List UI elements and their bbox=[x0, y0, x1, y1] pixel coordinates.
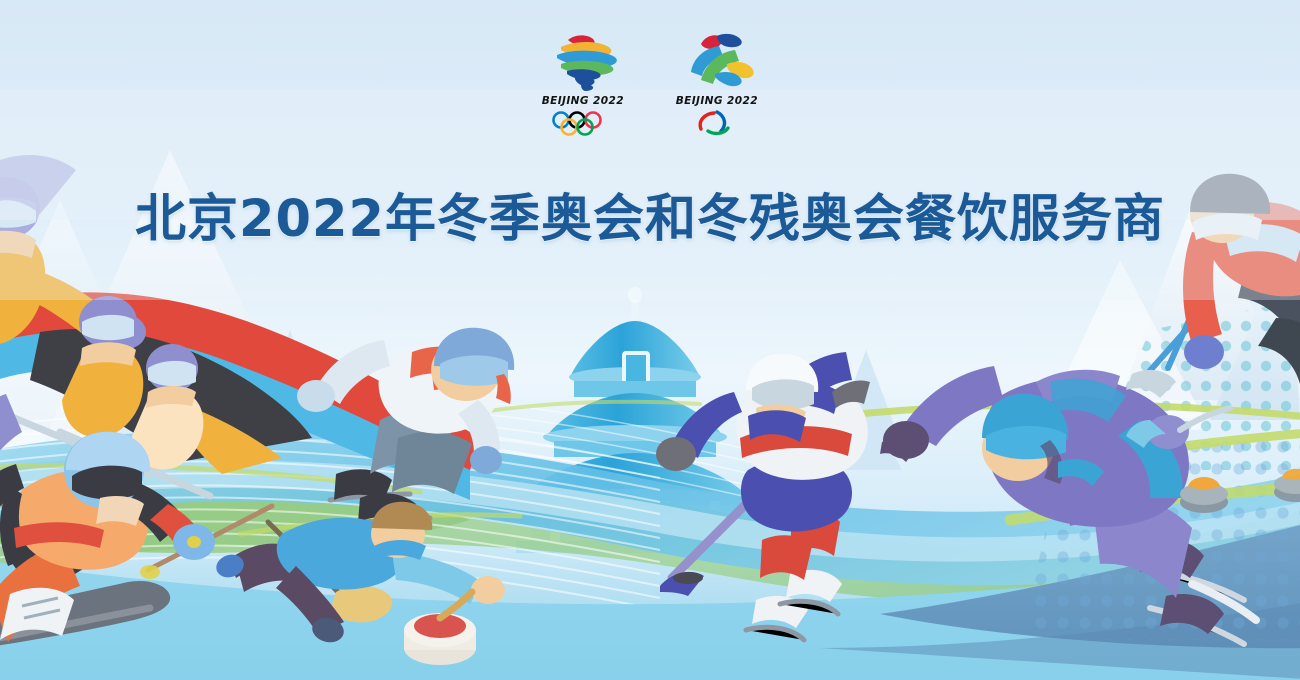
flying-leap-ribbon-icon bbox=[671, 30, 763, 92]
paralympic-agitos-icon bbox=[684, 110, 750, 136]
olympic-wordmark: BEIJING 2022 bbox=[542, 94, 624, 107]
paralympic-emblem: BEIJING 2022 bbox=[669, 30, 765, 136]
banner-title: 北京2022年冬季奥会和冬残奥会餐饮服务商 bbox=[0, 177, 1300, 251]
paralympic-wordmark: BEIJING 2022 bbox=[676, 94, 758, 107]
olympic-rings-icon bbox=[550, 110, 616, 136]
olympic-emblem: BEIJING 2022 bbox=[535, 30, 631, 136]
emblem-row: BEIJING 2022 bbox=[0, 30, 1300, 136]
winter-dong-ribbon-icon bbox=[537, 30, 629, 92]
beijing-2022-catering-banner: BEIJING 2022 bbox=[0, 0, 1300, 680]
